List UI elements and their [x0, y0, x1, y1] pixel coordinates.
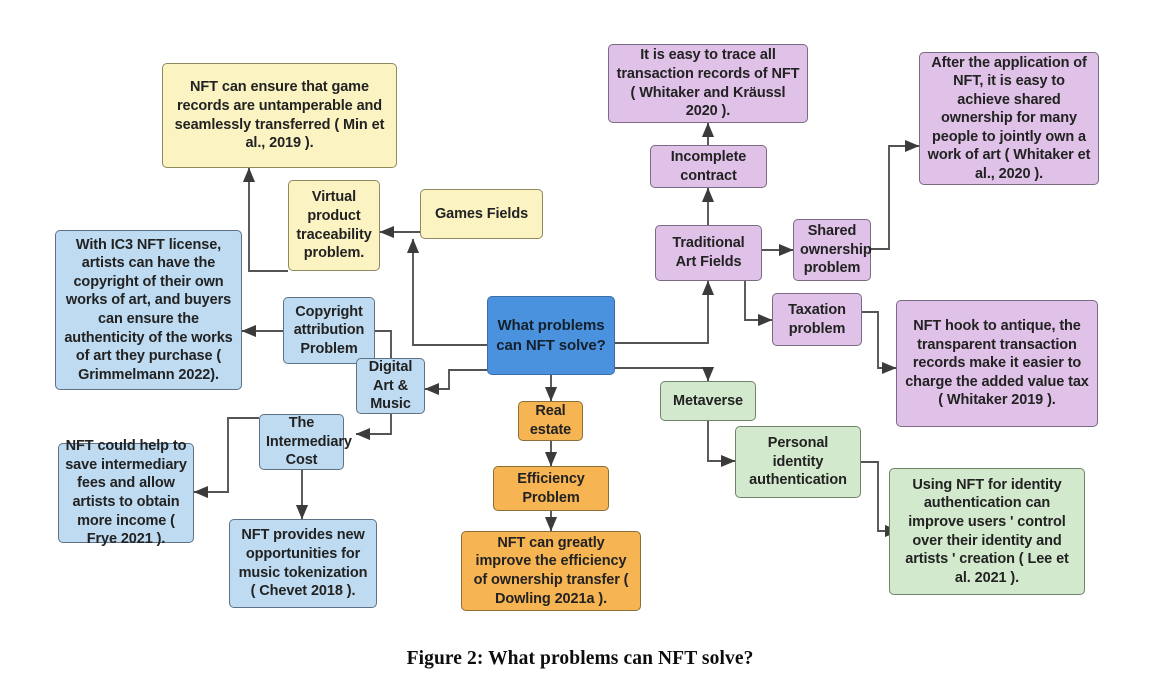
node-game-records[interactable]: NFT can ensure that game records are unt… — [162, 63, 397, 168]
node-personal-identity-label: Personal identity authentication — [742, 434, 854, 490]
edge-hub-metaverse — [615, 368, 708, 381]
node-games-fields-label: Games Fields — [427, 205, 536, 224]
edge-shared-detail — [871, 146, 919, 249]
node-copyright-attribution-label: Copyright attribution Problem — [290, 303, 368, 359]
node-shared-ownership[interactable]: Shared ownership problem — [793, 219, 871, 281]
edge-hub-digital — [425, 370, 487, 389]
node-traditional-art-fields[interactable]: Traditional Art Fields — [655, 225, 762, 281]
node-taxation-problem-label: Taxation problem — [779, 301, 855, 338]
node-hub-what-problems[interactable]: What problems can NFT solve? — [487, 296, 615, 375]
diagram-canvas: NFT can ensure that game records are unt… — [0, 0, 1160, 692]
edge-virtual-records — [249, 168, 288, 271]
node-intermediary-fees[interactable]: NFT could help to save intermediary fees… — [58, 443, 194, 543]
figure-caption: Figure 2: What problems can NFT solve? — [0, 648, 1160, 670]
node-incomplete-contract[interactable]: Incomplete contract — [650, 145, 767, 188]
edge-intermediary-fees — [194, 418, 259, 492]
node-metaverse[interactable]: Metaverse — [660, 381, 756, 421]
node-ic3-license[interactable]: With IC3 NFT license, artists can have t… — [55, 230, 242, 390]
node-real-estate[interactable]: Real estate — [518, 401, 583, 441]
node-personal-identity[interactable]: Personal identity authentication — [735, 426, 861, 498]
node-shared-ownership-detail-label: After the application of NFT, it is easy… — [926, 54, 1092, 184]
node-game-records-label: NFT can ensure that game records are unt… — [169, 78, 390, 152]
edge-digital-intermediary — [356, 414, 391, 434]
node-intermediary-cost[interactable]: The Intermediary Cost — [259, 414, 344, 470]
node-ownership-transfer[interactable]: NFT can greatly improve the efficiency o… — [461, 531, 641, 611]
node-digital-art-music-label: Digital Art & Music — [363, 358, 418, 414]
node-taxation-problem[interactable]: Taxation problem — [772, 293, 862, 346]
node-identity-detail[interactable]: Using NFT for identity authentication ca… — [889, 468, 1085, 595]
edge-hub-traditional — [615, 281, 708, 343]
node-copyright-attribution[interactable]: Copyright attribution Problem — [283, 297, 375, 364]
node-hub-label: What problems can NFT solve? — [494, 316, 608, 354]
node-real-estate-label: Real estate — [525, 402, 576, 439]
node-efficiency-problem-label: Efficiency Problem — [500, 470, 602, 507]
node-shared-ownership-label: Shared ownership problem — [800, 222, 864, 278]
edge-taxation-detail — [862, 312, 896, 368]
node-metaverse-label: Metaverse — [667, 392, 749, 411]
edge-traditional-taxation — [745, 281, 772, 320]
node-taxation-detail-label: NFT hook to antique, the transparent tra… — [903, 317, 1091, 410]
node-shared-ownership-detail[interactable]: After the application of NFT, it is easy… — [919, 52, 1099, 185]
node-traditional-art-fields-label: Traditional Art Fields — [662, 234, 755, 271]
node-music-tokenization[interactable]: NFT provides new opportunities for music… — [229, 519, 377, 608]
node-digital-art-music[interactable]: Digital Art & Music — [356, 358, 425, 414]
node-trace-records-label: It is easy to trace all transaction reco… — [615, 46, 801, 120]
node-music-tokenization-label: NFT provides new opportunities for music… — [236, 526, 370, 600]
node-virtual-product-label: Virtual product traceability problem. — [295, 188, 373, 262]
node-identity-detail-label: Using NFT for identity authentication ca… — [896, 476, 1078, 587]
node-taxation-detail[interactable]: NFT hook to antique, the transparent tra… — [896, 300, 1098, 427]
node-efficiency-problem[interactable]: Efficiency Problem — [493, 466, 609, 511]
node-intermediary-fees-label: NFT could help to save intermediary fees… — [65, 437, 187, 548]
node-incomplete-contract-label: Incomplete contract — [657, 148, 760, 185]
node-trace-records[interactable]: It is easy to trace all transaction reco… — [608, 44, 808, 123]
edge-hub-games — [413, 239, 487, 345]
node-ownership-transfer-label: NFT can greatly improve the efficiency o… — [468, 534, 634, 608]
node-games-fields[interactable]: Games Fields — [420, 189, 543, 239]
node-intermediary-cost-label: The Intermediary Cost — [266, 414, 337, 470]
node-virtual-product[interactable]: Virtual product traceability problem. — [288, 180, 380, 271]
node-ic3-license-label: With IC3 NFT license, artists can have t… — [62, 236, 235, 384]
edge-metaverse-identity — [708, 421, 735, 461]
